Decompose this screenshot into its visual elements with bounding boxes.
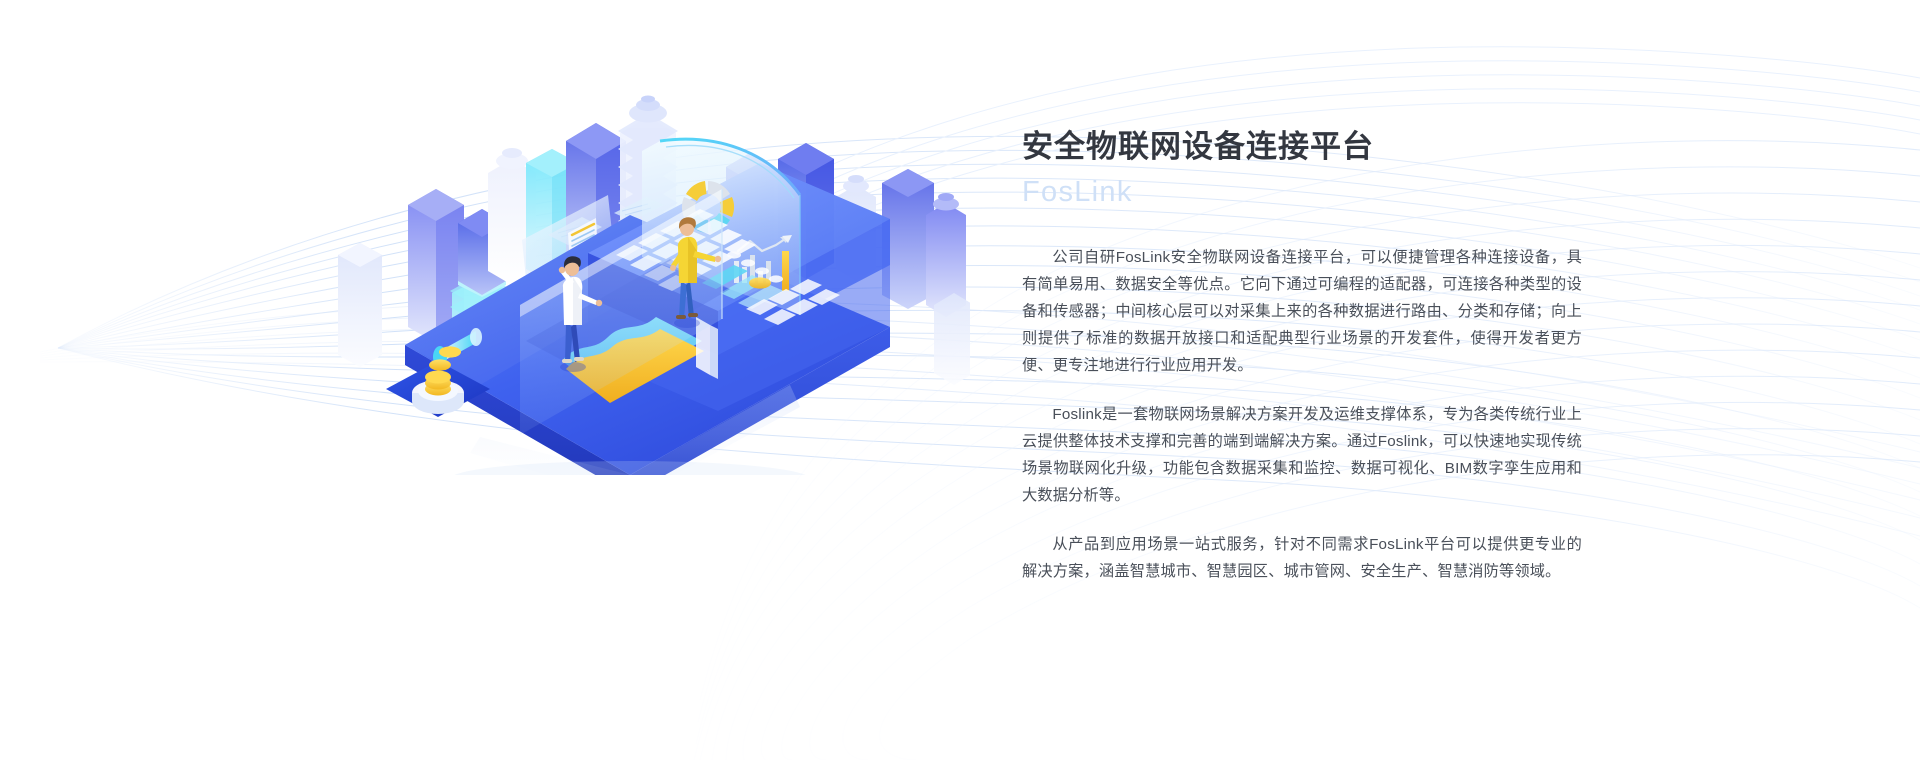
hero-page: 安全物联网设备连接平台 FosLink 公司自研FosLink安全物联网设备连接… bbox=[0, 0, 1920, 760]
deck-coin bbox=[749, 277, 771, 288]
hero-content: 安全物联网设备连接平台 FosLink 公司自研FosLink安全物联网设备连接… bbox=[1022, 128, 1582, 585]
isometric-iot-illustration bbox=[330, 55, 970, 475]
paragraph-1: 公司自研FosLink安全物联网设备连接平台，可以便捷管理各种连接设备，具有简单… bbox=[1022, 244, 1582, 379]
paragraph-3: 从产品到应用场景一站式服务，针对不同需求FosLink平台可以提供更专业的解决方… bbox=[1022, 531, 1582, 585]
product-name: FosLink bbox=[1022, 175, 1582, 210]
paragraph-2: Foslink是一套物联网场景解决方案开发及运维支撑体系，专为各类传统行业上云提… bbox=[1022, 401, 1582, 509]
description-block: 公司自研FosLink安全物联网设备连接平台，可以便捷管理各种连接设备，具有简单… bbox=[1022, 244, 1582, 585]
page-title: 安全物联网设备连接平台 bbox=[1022, 128, 1582, 165]
